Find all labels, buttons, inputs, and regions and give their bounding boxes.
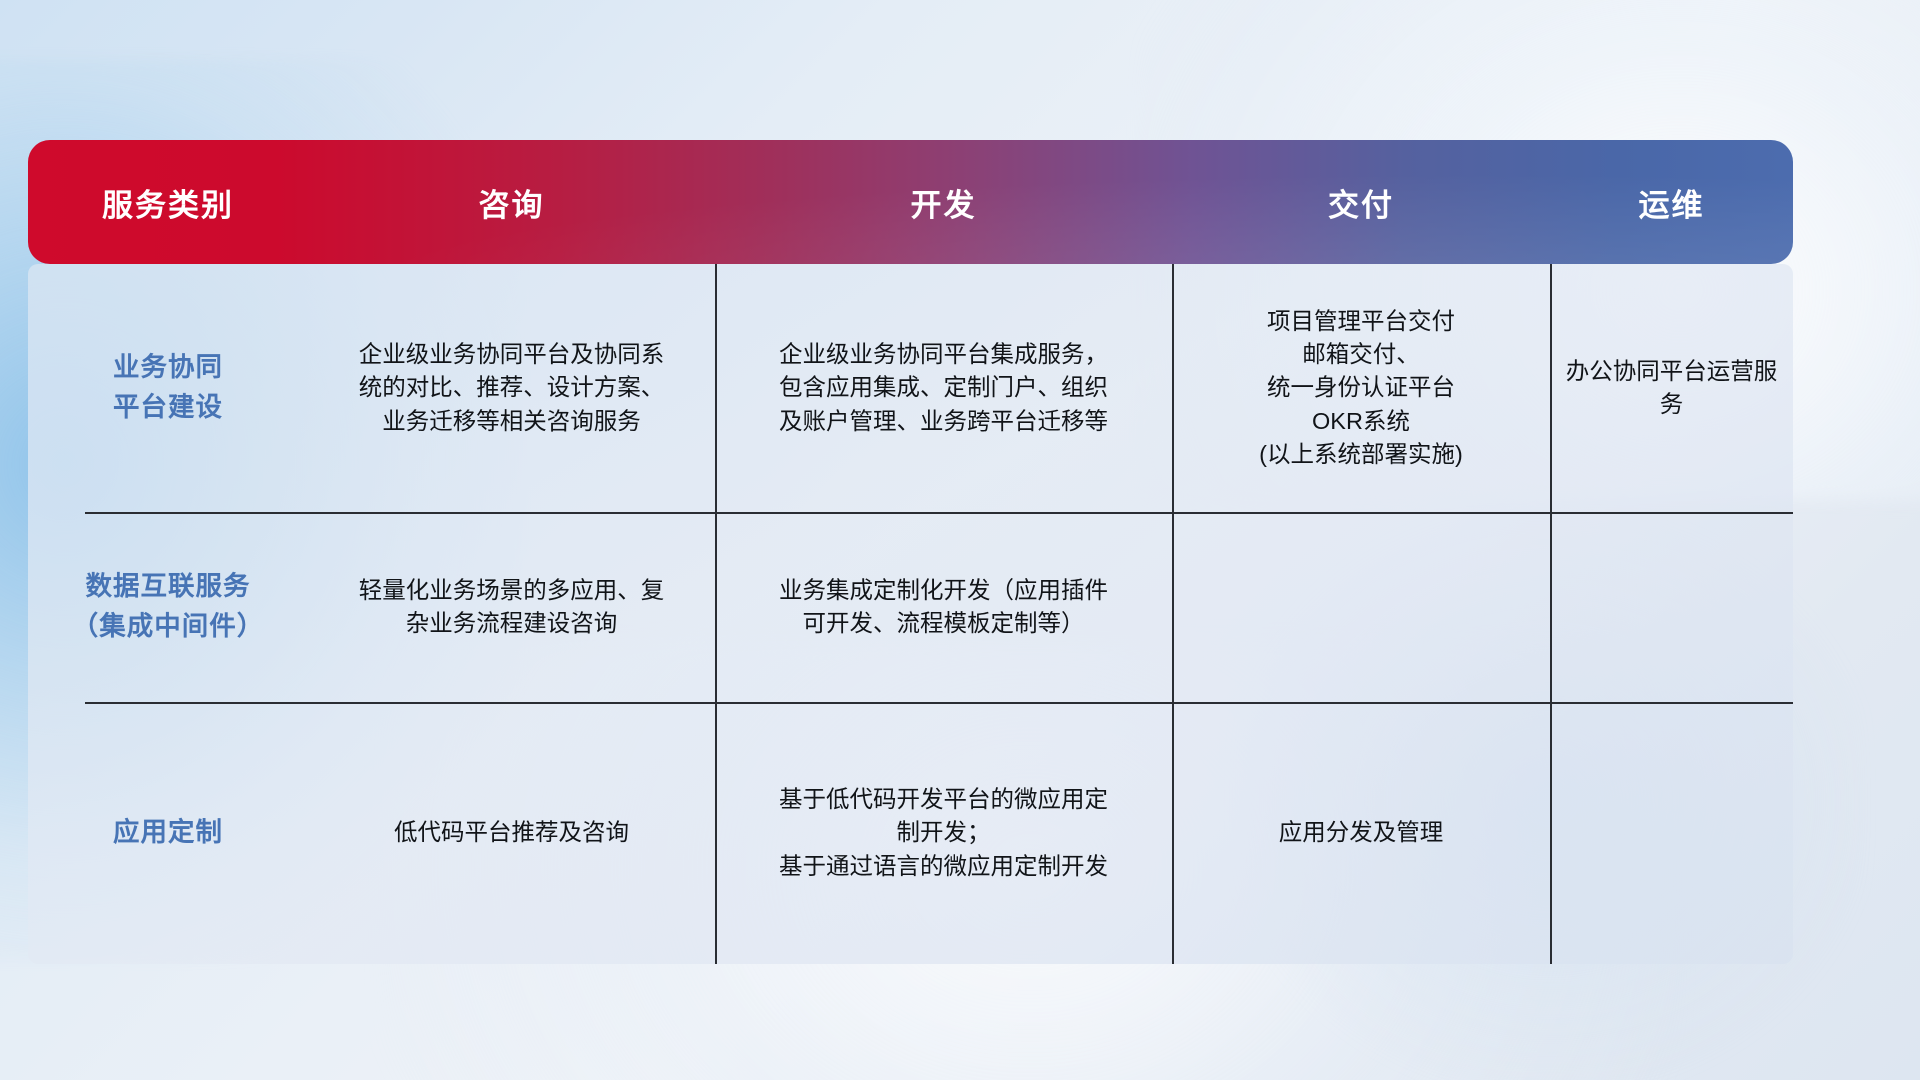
row-category-label: 业务协同 平台建设 — [28, 264, 308, 512]
cell-development: 基于低代码开发平台的微应用定 制开发； 基于通过语言的微应用定制开发 — [715, 702, 1172, 964]
cell-operations — [1550, 512, 1793, 702]
cell-consulting: 轻量化业务场景的多应用、复 杂业务流程建设咨询 — [308, 512, 715, 702]
column-header-consulting: 咨询 — [308, 180, 715, 225]
cell-delivery: 应用分发及管理 — [1172, 702, 1550, 964]
column-header-service-category: 服务类别 — [28, 180, 308, 225]
cell-delivery: 项目管理平台交付 邮箱交付、 统一身份认证平台 OKR系统 (以上系统部署实施) — [1172, 264, 1550, 512]
row-category-label: 数据互联服务 （集成中间件） — [28, 512, 308, 702]
column-header-delivery: 交付 — [1172, 180, 1550, 225]
column-divider-3 — [1550, 264, 1552, 964]
cell-consulting: 低代码平台推荐及咨询 — [308, 702, 715, 964]
cell-operations: 办公协同平台运营服务 — [1550, 264, 1793, 512]
table-row: 数据互联服务 （集成中间件） 轻量化业务场景的多应用、复 杂业务流程建设咨询 业… — [28, 512, 1793, 702]
column-divider-1 — [715, 264, 717, 964]
cell-delivery — [1172, 512, 1550, 702]
row-divider-2 — [85, 702, 1793, 704]
cell-development: 业务集成定制化开发（应用插件 可开发、流程模板定制等） — [715, 512, 1172, 702]
table-body: 业务协同 平台建设 企业级业务协同平台及协同系 统的对比、推荐、设计方案、 业务… — [28, 264, 1793, 964]
table-header-row: 服务类别 咨询 开发 交付 运维 — [28, 140, 1793, 264]
table-row: 业务协同 平台建设 企业级业务协同平台及协同系 统的对比、推荐、设计方案、 业务… — [28, 264, 1793, 512]
column-divider-2 — [1172, 264, 1174, 964]
cell-development: 企业级业务协同平台集成服务， 包含应用集成、定制门户、组织 及账户管理、业务跨平… — [715, 264, 1172, 512]
service-matrix-table: 服务类别 咨询 开发 交付 运维 业务协同 平台建设 企业级业务协同平台及协同系… — [28, 140, 1793, 964]
column-header-operations: 运维 — [1550, 180, 1793, 225]
cell-consulting: 企业级业务协同平台及协同系 统的对比、推荐、设计方案、 业务迁移等相关咨询服务 — [308, 264, 715, 512]
row-divider-1 — [85, 512, 1793, 514]
cell-operations — [1550, 702, 1793, 964]
column-header-development: 开发 — [715, 180, 1172, 225]
row-category-label: 应用定制 — [28, 702, 308, 964]
table-row: 应用定制 低代码平台推荐及咨询 基于低代码开发平台的微应用定 制开发； 基于通过… — [28, 702, 1793, 964]
